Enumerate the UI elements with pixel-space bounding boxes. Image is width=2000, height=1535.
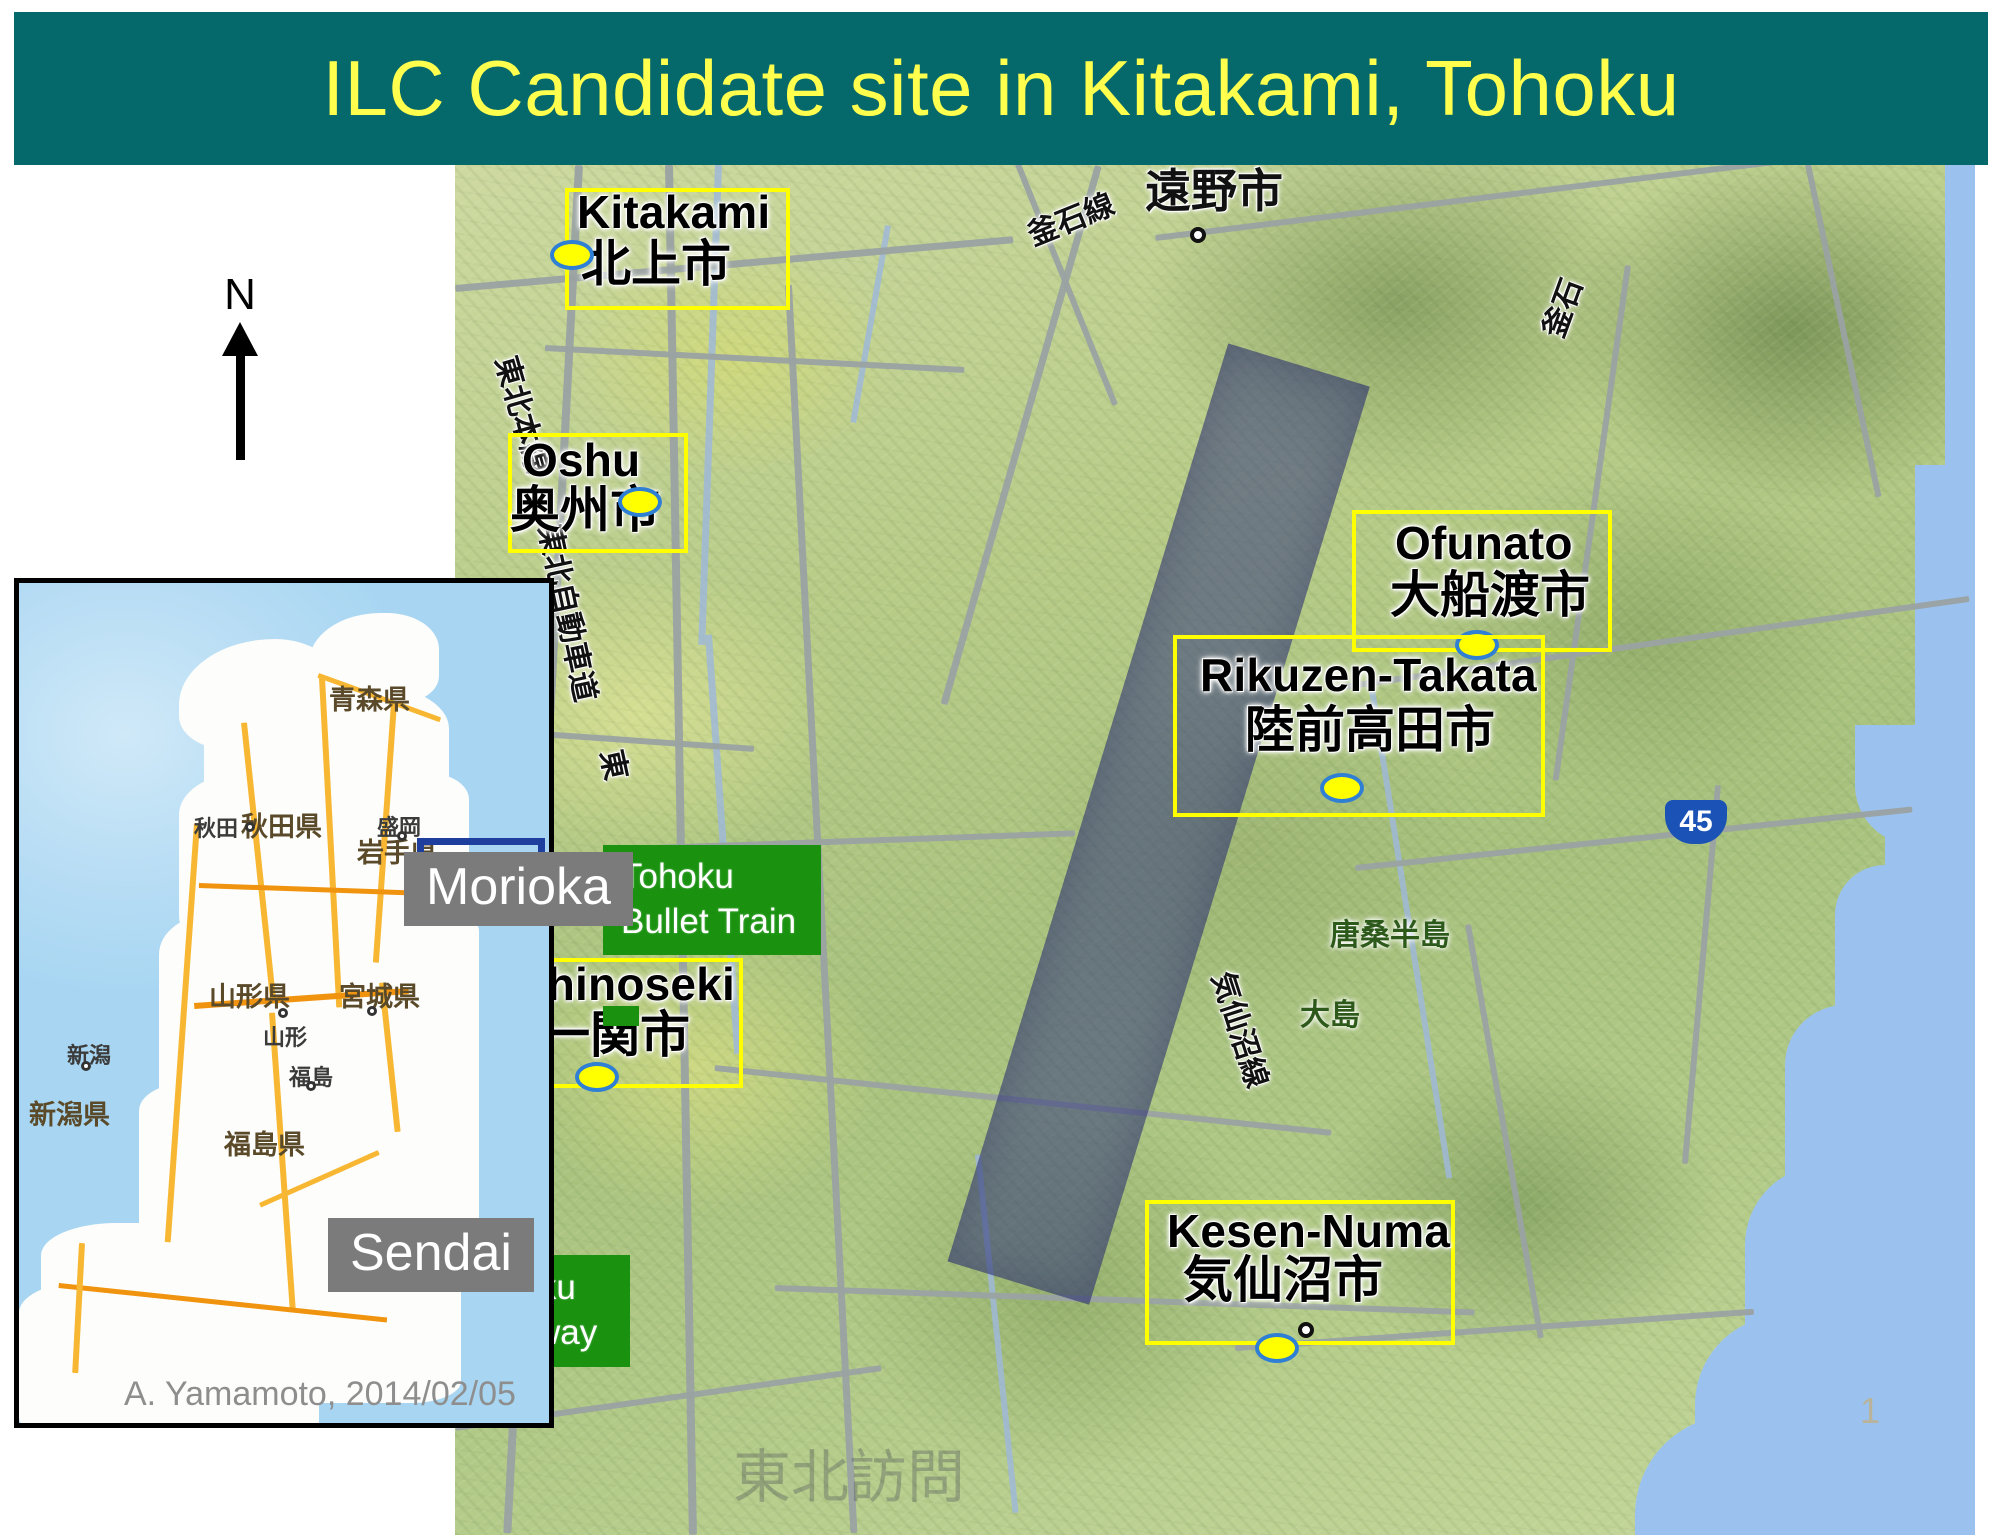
inset-dot-fukushima [306, 1081, 316, 1091]
callout-morioka[interactable]: Morioka [404, 852, 633, 926]
city-label-ofunato-en: Ofunato [1395, 520, 1573, 567]
city-label-kesen-numa-en: Kesen-Numa [1167, 1208, 1450, 1255]
city-label-kesen-numa-jp: 気仙沼市 [1183, 1255, 1383, 1306]
page-title: ILC Candidate site in Kitakami, Tohoku [322, 43, 1679, 134]
inset-label-fukushima: 福島県 [224, 1123, 305, 1162]
inset-city-akita: 秋田 [194, 811, 238, 843]
inset-dot-yamagata [278, 1008, 288, 1018]
city-label-rikuzen-takata-jp: 陸前高田市 [1245, 705, 1495, 756]
city-marker-rikuzen-takata[interactable] [1320, 773, 1364, 803]
inset-label-yamagata: 山形県 [209, 975, 290, 1014]
north-arrow: N [205, 270, 275, 460]
main-map[interactable]: 遠野市 釜石線 釜石 上線 東北本線 東北自動車道 東 気仙沼線 唐桑半島 大島… [455, 165, 1975, 1535]
inset-dot-morioka [397, 831, 407, 841]
map-dot-tono [1190, 227, 1206, 243]
city-label-kitakami-jp: 北上市 [581, 239, 731, 290]
inset-dot-niigata [81, 1061, 91, 1071]
map-label-karakuwa-peninsula: 唐桑半島 [1330, 910, 1450, 954]
city-label-rikuzen-takata-en: Rikuzen-Takata [1200, 652, 1537, 699]
map-dot-kesennuma-station [1298, 1322, 1314, 1338]
city-marker-kesen-numa[interactable] [1255, 1333, 1299, 1363]
inset-label-aomori: 青森県 [329, 678, 410, 717]
label-tohoku-bullet-train[interactable] [603, 1006, 639, 1026]
map-label-oshima: 大島 [1300, 990, 1360, 1034]
label-tohoku-bullet-train-box[interactable]: Tohoku Bullet Train [603, 845, 821, 955]
city-marker-ichinoseki[interactable] [575, 1062, 619, 1092]
bullet-train-line1: Tohoku [621, 855, 803, 900]
inset-dot-sendai [367, 1006, 377, 1016]
inset-label-miyagi: 宮城県 [339, 975, 420, 1014]
credit-text: A. Yamamoto, 2014/02/05 [124, 1375, 516, 1414]
inset-map[interactable]: 青森県 秋田県 岩手県 山形県 宮城県 新潟県 福島県 秋田 盛岡 山形 新潟 … [14, 578, 554, 1428]
north-arrow-shaft [236, 332, 245, 460]
page-number: 1 [1860, 1390, 1880, 1432]
city-label-kitakami-en: Kitakami [577, 189, 770, 236]
inset-label-niigata: 新潟県 [29, 1093, 110, 1132]
callout-sendai[interactable]: Sendai [328, 1218, 534, 1292]
city-label-oshu-en: Oshu [522, 437, 640, 484]
title-banner: ILC Candidate site in Kitakami, Tohoku [14, 12, 1988, 165]
bullet-train-line2: Bullet Train [621, 900, 803, 945]
city-label-ofunato-jp: 大船渡市 [1390, 570, 1590, 621]
map-label-tono-city: 遠野市 [1145, 165, 1283, 221]
north-arrow-label: N [205, 270, 275, 320]
city-marker-oshu[interactable] [618, 487, 662, 517]
inset-dot-akita [245, 822, 255, 832]
watermark: 東北訪問 [733, 1430, 965, 1514]
city-marker-kitakami[interactable] [550, 240, 594, 270]
inset-city-yamagata: 山形 [263, 1020, 307, 1052]
